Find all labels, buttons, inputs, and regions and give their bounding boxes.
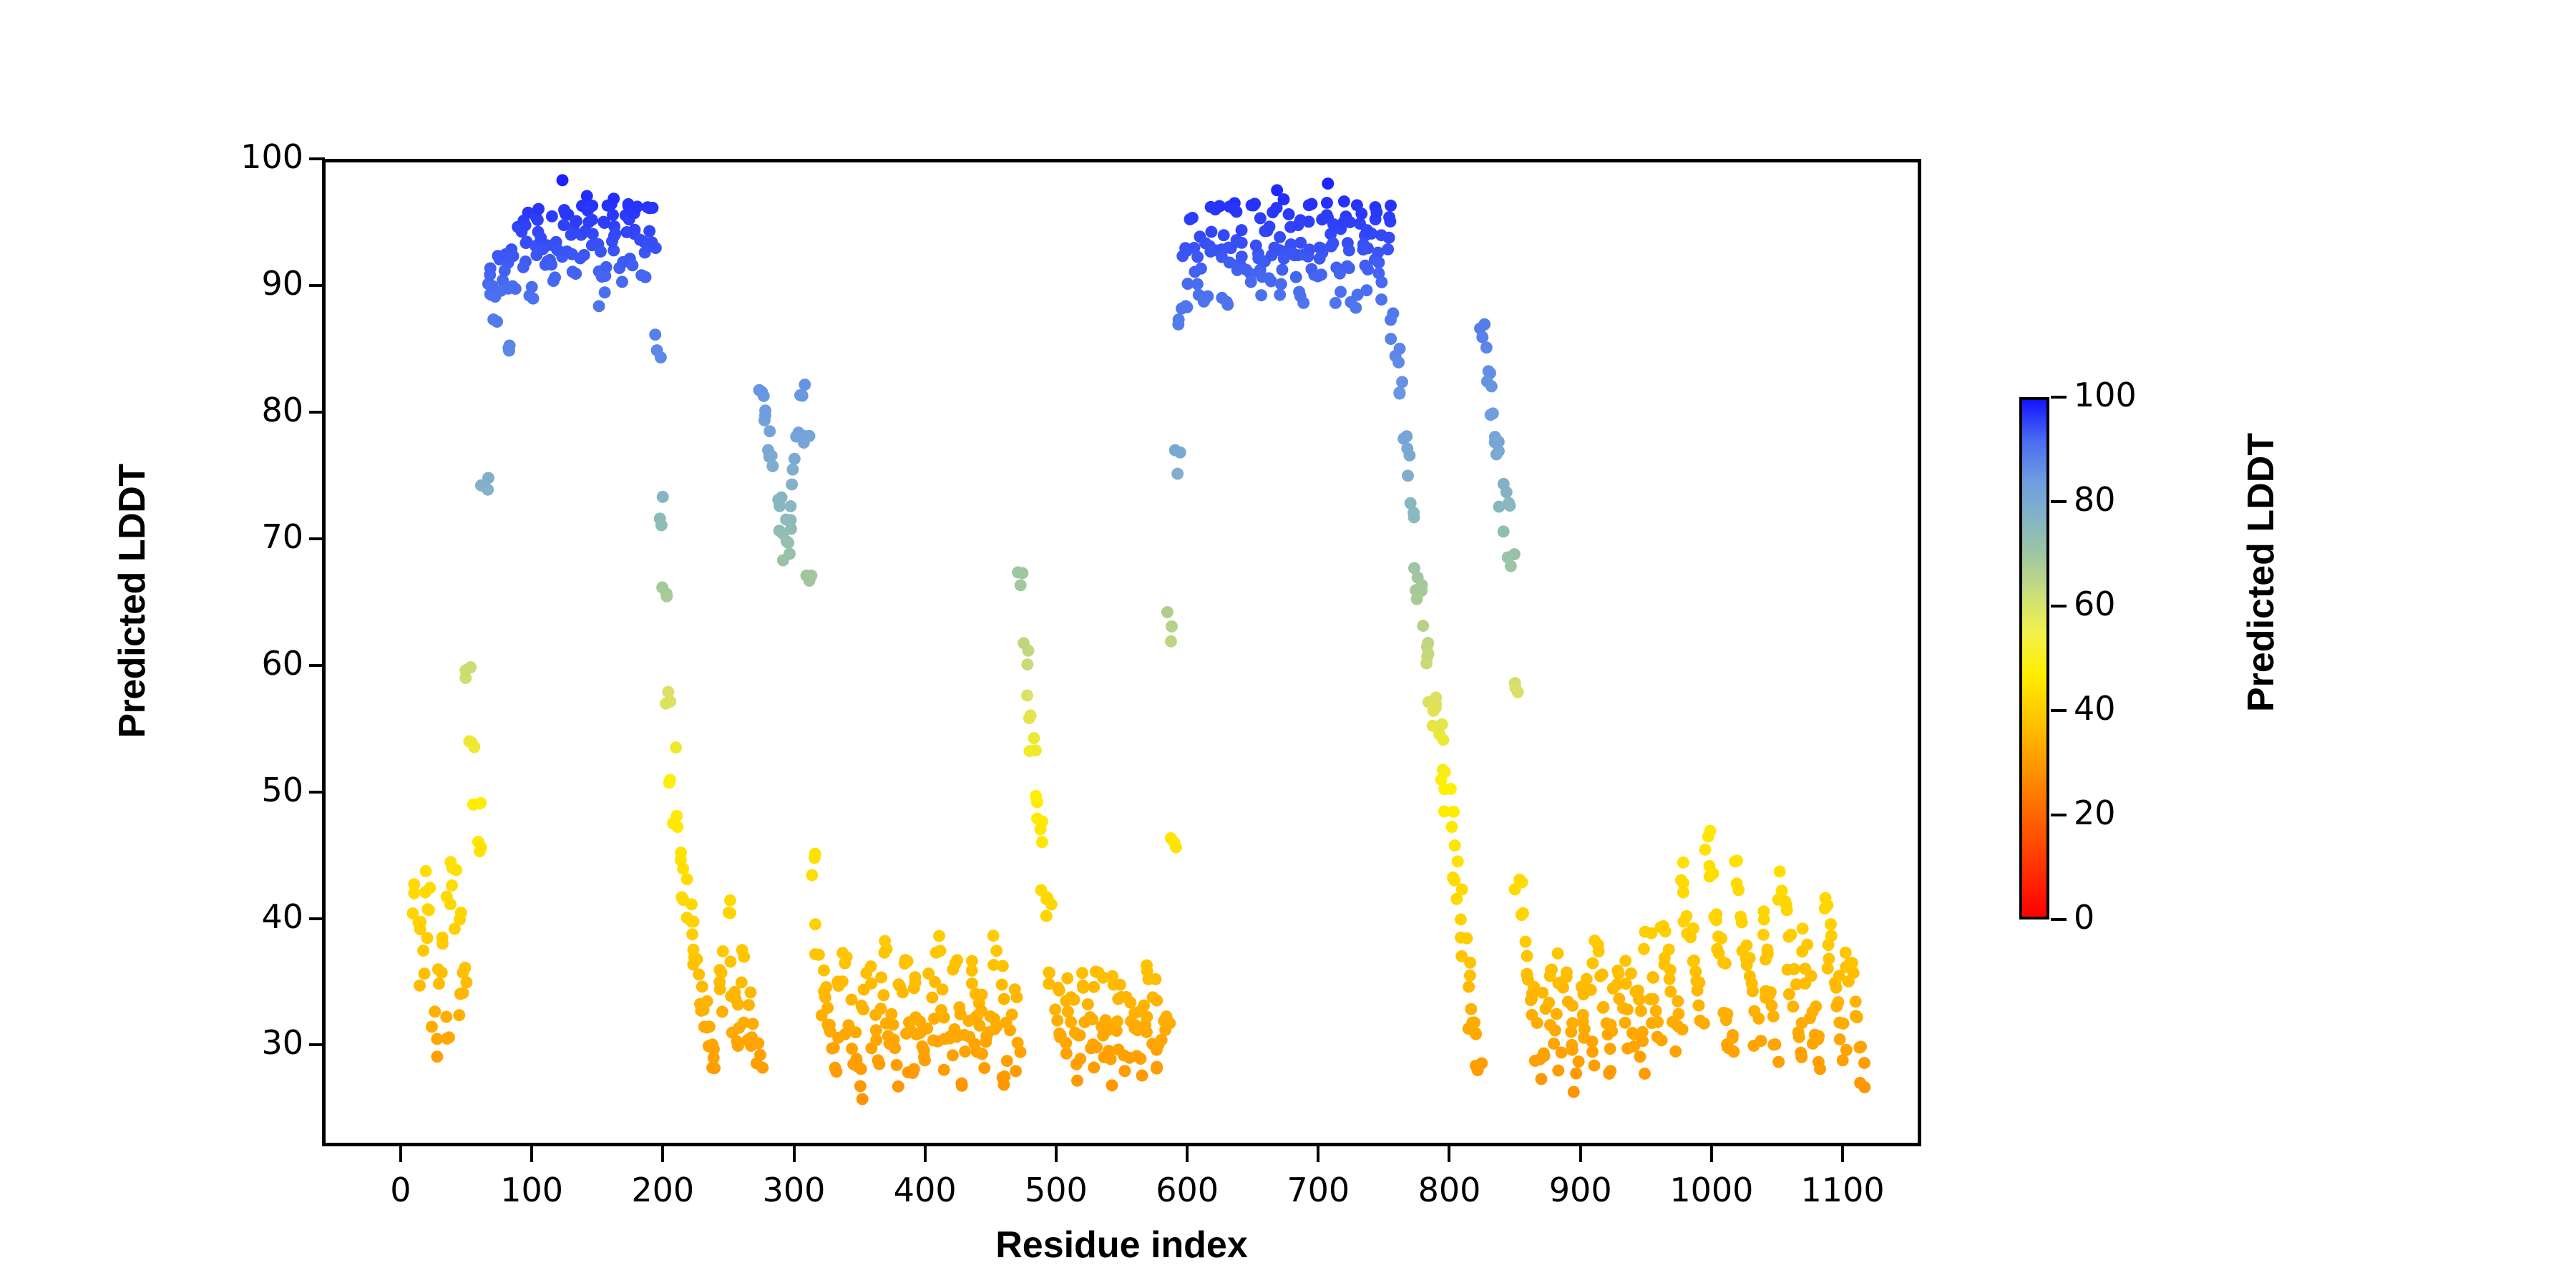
data-point xyxy=(1797,922,1809,935)
data-point xyxy=(1858,1081,1870,1093)
data-point xyxy=(829,1062,841,1074)
data-point xyxy=(1463,981,1475,993)
data-point xyxy=(1314,253,1326,265)
scatter-points-layer xyxy=(326,162,1918,1143)
data-point xyxy=(1702,831,1714,843)
data-point xyxy=(1566,1044,1579,1056)
y-tick-label: 30 xyxy=(261,1023,303,1062)
data-point xyxy=(990,945,1002,957)
data-point xyxy=(806,869,818,882)
data-point xyxy=(892,1080,904,1093)
data-point xyxy=(423,904,435,916)
data-point xyxy=(772,494,784,506)
data-point xyxy=(1581,973,1593,985)
data-point xyxy=(1652,1016,1664,1028)
data-point xyxy=(1551,1008,1563,1020)
data-point xyxy=(1221,296,1233,308)
data-point xyxy=(432,963,444,975)
data-point xyxy=(586,214,598,226)
data-point xyxy=(854,1080,867,1092)
data-point xyxy=(1082,998,1094,1010)
data-point xyxy=(643,225,655,238)
data-point xyxy=(1830,982,1843,994)
data-point xyxy=(1820,892,1832,904)
data-point xyxy=(1647,993,1659,1005)
data-point xyxy=(1717,957,1729,969)
x-tick xyxy=(1710,1146,1713,1162)
data-point xyxy=(978,1062,990,1074)
data-point xyxy=(753,384,766,396)
data-point xyxy=(1036,816,1048,828)
data-point xyxy=(935,945,947,957)
data-point xyxy=(657,491,669,503)
data-point xyxy=(1294,290,1307,302)
data-point xyxy=(1070,1058,1083,1070)
data-point xyxy=(875,972,887,984)
x-tick xyxy=(1055,1146,1058,1162)
data-point xyxy=(1562,996,1574,1008)
data-point xyxy=(1001,1055,1013,1067)
data-point xyxy=(414,980,426,992)
data-point xyxy=(675,847,687,859)
data-point xyxy=(1156,1034,1168,1046)
data-point xyxy=(1306,198,1318,210)
data-point xyxy=(1837,1054,1849,1066)
data-point xyxy=(1062,1005,1074,1018)
data-point xyxy=(947,964,959,976)
data-point xyxy=(1158,1015,1170,1027)
data-point xyxy=(1747,985,1759,997)
data-point xyxy=(1604,1065,1616,1077)
data-point xyxy=(1396,376,1408,388)
data-point xyxy=(449,923,461,935)
data-point xyxy=(1304,243,1316,255)
data-point xyxy=(723,907,735,919)
data-point xyxy=(1383,232,1395,244)
data-point xyxy=(1650,1005,1662,1017)
data-point xyxy=(1840,1044,1853,1056)
data-point xyxy=(417,945,429,957)
data-point xyxy=(918,1051,930,1063)
x-tick xyxy=(1579,1146,1582,1162)
data-point xyxy=(695,1005,707,1017)
data-point xyxy=(1165,635,1177,648)
data-point xyxy=(1450,893,1463,905)
data-point xyxy=(1757,929,1770,941)
data-point xyxy=(1478,318,1491,331)
data-point xyxy=(1619,1017,1631,1029)
data-point xyxy=(831,975,844,987)
data-point xyxy=(1205,226,1217,238)
data-point xyxy=(444,898,457,910)
data-point xyxy=(818,965,830,977)
data-point xyxy=(798,436,810,449)
data-point xyxy=(681,873,693,885)
data-point xyxy=(1361,224,1373,236)
data-point xyxy=(1762,948,1774,960)
data-point xyxy=(1611,965,1624,977)
data-point xyxy=(1731,854,1743,867)
data-point xyxy=(1161,606,1174,618)
data-point xyxy=(1783,988,1795,1000)
data-point xyxy=(849,1026,862,1038)
data-point xyxy=(1043,967,1055,979)
data-point xyxy=(420,865,432,877)
x-tick xyxy=(1317,1146,1319,1162)
data-point xyxy=(662,686,674,698)
data-point xyxy=(839,1028,851,1040)
data-point xyxy=(1765,986,1777,998)
data-point xyxy=(631,200,643,213)
data-point xyxy=(570,215,582,228)
y-tick-label: 90 xyxy=(261,264,303,303)
data-point xyxy=(1604,1019,1616,1031)
data-point xyxy=(507,280,519,292)
x-tick xyxy=(1448,1146,1450,1162)
data-point xyxy=(716,1005,728,1018)
data-point xyxy=(1375,293,1387,306)
data-point xyxy=(926,992,938,1004)
data-point xyxy=(1838,1018,1850,1030)
data-point xyxy=(1335,286,1347,298)
data-point xyxy=(1236,224,1248,236)
data-point xyxy=(429,1005,441,1018)
data-point xyxy=(1028,732,1040,744)
data-point xyxy=(457,987,469,999)
data-point xyxy=(794,389,806,401)
data-point xyxy=(708,1043,720,1055)
data-point xyxy=(1218,229,1230,241)
data-point xyxy=(998,1070,1010,1083)
data-point xyxy=(1343,245,1355,257)
data-point xyxy=(902,1066,914,1078)
data-point xyxy=(1350,302,1362,314)
data-point xyxy=(1604,1043,1616,1055)
data-point xyxy=(1825,918,1837,930)
data-point xyxy=(649,328,661,341)
data-point xyxy=(968,1038,980,1050)
data-point xyxy=(1006,1008,1018,1020)
data-point xyxy=(1639,1068,1651,1080)
data-point xyxy=(1290,271,1302,283)
data-point xyxy=(1118,1065,1131,1077)
colorbar-tick-label: 100 xyxy=(2074,376,2137,414)
data-point xyxy=(846,994,858,1006)
data-point xyxy=(693,968,705,980)
x-tick-label: 1100 xyxy=(1771,1171,1914,1209)
data-point xyxy=(1383,211,1395,223)
data-point xyxy=(799,379,811,391)
data-point xyxy=(998,993,1010,1005)
data-point xyxy=(1264,220,1276,233)
data-point xyxy=(751,1058,763,1070)
data-point xyxy=(1693,1000,1705,1012)
data-point xyxy=(1040,910,1053,922)
data-point xyxy=(1171,468,1184,480)
data-point xyxy=(593,300,605,312)
colorbar-tick-label: 60 xyxy=(2074,585,2116,623)
data-point xyxy=(1552,947,1564,960)
data-point xyxy=(872,1054,884,1066)
data-point xyxy=(1405,497,1417,509)
data-point xyxy=(608,230,620,242)
data-point xyxy=(1850,995,1862,1008)
colorbar xyxy=(2019,397,2049,919)
data-point xyxy=(1480,341,1493,353)
data-point xyxy=(785,523,797,535)
data-point xyxy=(1278,193,1290,205)
data-point xyxy=(1448,806,1460,818)
data-point xyxy=(546,210,558,223)
data-point xyxy=(475,479,487,492)
x-tick-label: 1000 xyxy=(1640,1171,1783,1209)
data-point xyxy=(1330,297,1342,309)
data-point xyxy=(1417,620,1429,632)
data-point xyxy=(466,736,478,748)
data-point xyxy=(1314,242,1326,254)
data-point xyxy=(455,907,467,919)
data-point xyxy=(431,1050,443,1063)
data-point xyxy=(1634,1050,1646,1063)
data-point xyxy=(935,1004,947,1016)
data-point xyxy=(1699,844,1712,856)
data-point xyxy=(1402,469,1414,482)
data-point xyxy=(1621,1003,1634,1015)
data-point xyxy=(878,947,890,959)
data-point xyxy=(1052,982,1064,994)
data-point xyxy=(545,258,557,270)
data-point xyxy=(789,453,801,465)
data-point xyxy=(724,894,736,907)
data-point xyxy=(1688,955,1700,967)
data-point xyxy=(1556,1046,1568,1058)
data-point xyxy=(782,537,794,549)
data-point xyxy=(786,464,799,476)
data-point xyxy=(1076,967,1088,979)
data-point xyxy=(1531,1017,1543,1029)
data-point xyxy=(503,345,515,357)
x-tick-label: 100 xyxy=(460,1171,603,1209)
data-point xyxy=(1071,1075,1083,1087)
data-point xyxy=(1385,314,1397,326)
data-point xyxy=(1247,200,1259,212)
data-point xyxy=(1455,914,1467,926)
data-point xyxy=(856,1000,868,1012)
data-point xyxy=(686,928,698,940)
data-point xyxy=(527,293,540,305)
data-point xyxy=(736,976,748,988)
x-tick-label: 900 xyxy=(1509,1171,1652,1209)
colorbar-gradient xyxy=(2019,397,2049,919)
data-point xyxy=(1274,289,1286,301)
data-point xyxy=(1664,964,1677,976)
data-point xyxy=(1141,1026,1153,1038)
data-point xyxy=(424,882,436,894)
data-point xyxy=(747,1018,759,1030)
data-point xyxy=(1672,995,1684,1008)
y-tick-label: 40 xyxy=(261,897,303,936)
data-point xyxy=(777,555,789,567)
data-point xyxy=(1774,866,1786,878)
data-point xyxy=(1385,200,1397,212)
data-point xyxy=(1055,1029,1067,1041)
data-point xyxy=(1843,975,1855,987)
data-point xyxy=(1677,857,1689,869)
colorbar-tick xyxy=(2051,605,2067,608)
x-tick xyxy=(399,1146,402,1162)
data-point xyxy=(1012,1037,1024,1049)
data-point xyxy=(1370,206,1382,218)
data-point xyxy=(1787,1000,1799,1013)
x-tick xyxy=(1841,1146,1844,1162)
data-point xyxy=(874,1002,887,1015)
data-point xyxy=(1782,930,1795,942)
data-point xyxy=(1767,1010,1780,1023)
x-tick xyxy=(793,1146,796,1162)
data-point xyxy=(1522,974,1534,986)
data-point xyxy=(987,930,1000,942)
data-point xyxy=(698,1021,711,1033)
data-point xyxy=(801,570,813,582)
data-point xyxy=(1619,955,1631,967)
data-point xyxy=(1447,872,1459,884)
data-point xyxy=(1274,231,1286,243)
data-point xyxy=(1525,994,1537,1006)
data-point xyxy=(1767,1038,1780,1050)
data-point xyxy=(997,960,1009,972)
data-point xyxy=(1557,982,1569,994)
data-point xyxy=(1799,977,1811,990)
data-point xyxy=(1517,907,1529,919)
data-point xyxy=(587,228,599,240)
data-point xyxy=(671,821,683,833)
data-point xyxy=(600,261,613,273)
data-point xyxy=(1822,962,1834,975)
data-point xyxy=(1010,1065,1022,1077)
data-point xyxy=(1149,973,1161,985)
data-point xyxy=(717,945,729,957)
data-point xyxy=(1635,1005,1647,1017)
data-point xyxy=(1392,356,1405,369)
data-point xyxy=(549,271,561,283)
data-point xyxy=(1781,904,1793,917)
data-point xyxy=(879,935,891,947)
plot-area xyxy=(322,159,1921,1146)
data-point xyxy=(1504,499,1516,512)
data-point xyxy=(532,214,544,226)
data-point xyxy=(1566,1017,1579,1029)
y-axis-title: Predicted LDDT xyxy=(111,401,154,801)
data-point xyxy=(1088,981,1100,993)
data-point xyxy=(1727,1032,1739,1044)
data-point xyxy=(1597,1002,1609,1014)
data-point xyxy=(1755,1035,1767,1047)
data-point xyxy=(784,500,796,512)
data-point xyxy=(1420,658,1433,670)
data-point xyxy=(440,1011,452,1023)
data-point xyxy=(447,862,459,874)
data-point xyxy=(1240,264,1252,276)
data-point xyxy=(1652,1031,1664,1043)
x-tick xyxy=(1186,1146,1189,1162)
y-tick-label: 60 xyxy=(261,644,303,683)
data-point xyxy=(688,944,700,956)
data-point xyxy=(1549,1025,1561,1037)
data-point xyxy=(1321,197,1333,209)
data-point xyxy=(426,1020,438,1033)
data-point xyxy=(696,980,708,992)
data-point xyxy=(1322,177,1334,190)
data-point xyxy=(889,1042,901,1054)
data-point xyxy=(1476,331,1488,343)
data-point xyxy=(578,249,590,261)
data-point xyxy=(1051,1015,1063,1027)
x-tick-label: 800 xyxy=(1377,1171,1521,1209)
data-point xyxy=(1698,1018,1710,1030)
data-point xyxy=(933,930,945,942)
data-point xyxy=(1796,945,1808,957)
data-point xyxy=(688,916,700,928)
colorbar-tick xyxy=(2051,918,2067,921)
data-point xyxy=(1491,448,1503,460)
data-point xyxy=(714,983,726,995)
data-point xyxy=(616,276,628,288)
data-point xyxy=(1118,1050,1130,1062)
y-tick-label: 100 xyxy=(240,137,303,176)
data-point xyxy=(1030,744,1042,756)
data-point xyxy=(870,1034,882,1046)
data-point xyxy=(841,951,853,963)
data-point xyxy=(996,979,1008,991)
data-point xyxy=(1708,911,1720,923)
data-point xyxy=(855,1063,867,1075)
data-point xyxy=(1195,263,1207,275)
data-point xyxy=(1124,997,1136,1009)
data-point xyxy=(677,863,689,875)
data-point xyxy=(909,977,922,989)
data-point xyxy=(1732,884,1745,897)
data-point xyxy=(1735,911,1747,923)
data-point xyxy=(846,1043,858,1055)
data-point xyxy=(824,1019,836,1031)
data-point xyxy=(1372,268,1385,280)
data-point xyxy=(1166,620,1178,633)
data-point xyxy=(1438,733,1450,746)
data-point xyxy=(626,259,638,271)
data-point xyxy=(1720,1014,1732,1026)
data-point xyxy=(419,967,431,980)
colorbar-tick xyxy=(2051,814,2067,816)
data-point xyxy=(1853,1042,1865,1054)
data-point xyxy=(1228,203,1240,215)
data-point xyxy=(1690,975,1702,987)
data-point xyxy=(507,250,519,262)
data-point xyxy=(766,449,778,462)
data-point xyxy=(1287,247,1299,259)
data-point xyxy=(1561,966,1573,978)
data-point xyxy=(1840,947,1852,959)
data-point xyxy=(1470,1028,1482,1040)
data-point xyxy=(1684,931,1697,943)
colorbar-tick-label: 40 xyxy=(2074,689,2116,728)
data-point xyxy=(1093,967,1105,979)
data-point xyxy=(1585,984,1597,996)
data-point xyxy=(660,590,673,602)
data-point xyxy=(1807,1006,1819,1018)
data-point xyxy=(1677,887,1689,899)
data-point xyxy=(1485,380,1498,392)
data-point xyxy=(1430,691,1442,703)
